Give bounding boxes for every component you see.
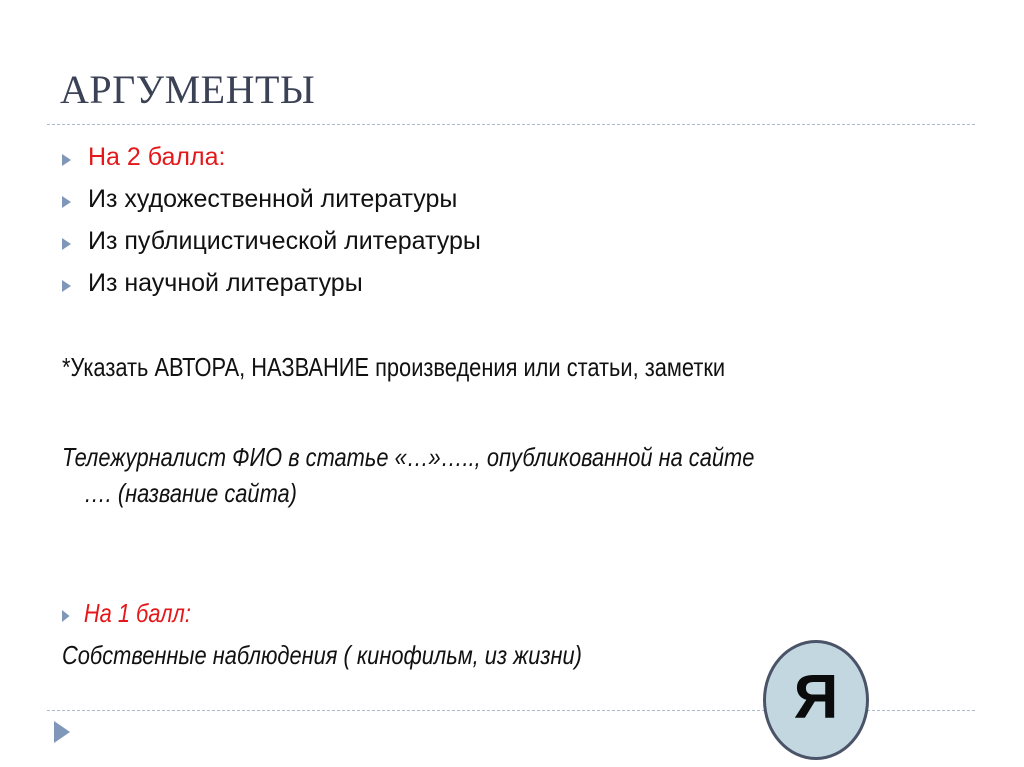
bullet-item-label: Из научной литературы [88, 268, 992, 298]
bullet-item-label: На 1 балл: [84, 598, 843, 629]
bullet-item-na-1-ball: На 1 балл: [62, 598, 843, 629]
bullet-item-label: На 2 балла: [88, 142, 992, 172]
bottom-triangle-icon [54, 721, 70, 743]
bullet-item-label: Из публицистической литературы [88, 226, 992, 256]
own-observations-line: Собственные наблюдения ( кинофильм, из ж… [62, 640, 843, 671]
bullet-item-science: Из научной литературы [62, 268, 992, 298]
example-sentence-line-2: …. (название сайта) [62, 478, 843, 509]
bullet-item-label: Из художественной литературы [88, 184, 992, 214]
logo-circle: Я [763, 640, 869, 760]
bullet-item-na-2-balla: На 2 балла: [62, 142, 992, 172]
example-sentence-label: …. (название сайта) [84, 478, 843, 509]
note-author-title-label: *Указать АВТОРА, НАЗВАНИЕ произведения и… [62, 352, 843, 383]
slide-canvas: АРГУМЕНТЫ На 2 балла: Из художественной … [0, 0, 1024, 767]
logo-letter: Я [794, 667, 839, 729]
example-sentence-label: Тележурналист ФИО в статье «…»….., опубл… [62, 442, 843, 473]
bullet-item-fiction: Из художественной литературы [62, 184, 992, 214]
own-observations-label: Собственные наблюдения ( кинофильм, из ж… [62, 640, 843, 671]
bullet-item-journalism: Из публицистической литературы [62, 226, 992, 256]
note-author-title: *Указать АВТОРА, НАЗВАНИЕ произведения и… [62, 352, 843, 383]
slide-body: На 2 балла: Из художественной литературы… [0, 0, 1024, 767]
example-sentence-line-1: Тележурналист ФИО в статье «…»….., опубл… [62, 442, 843, 473]
